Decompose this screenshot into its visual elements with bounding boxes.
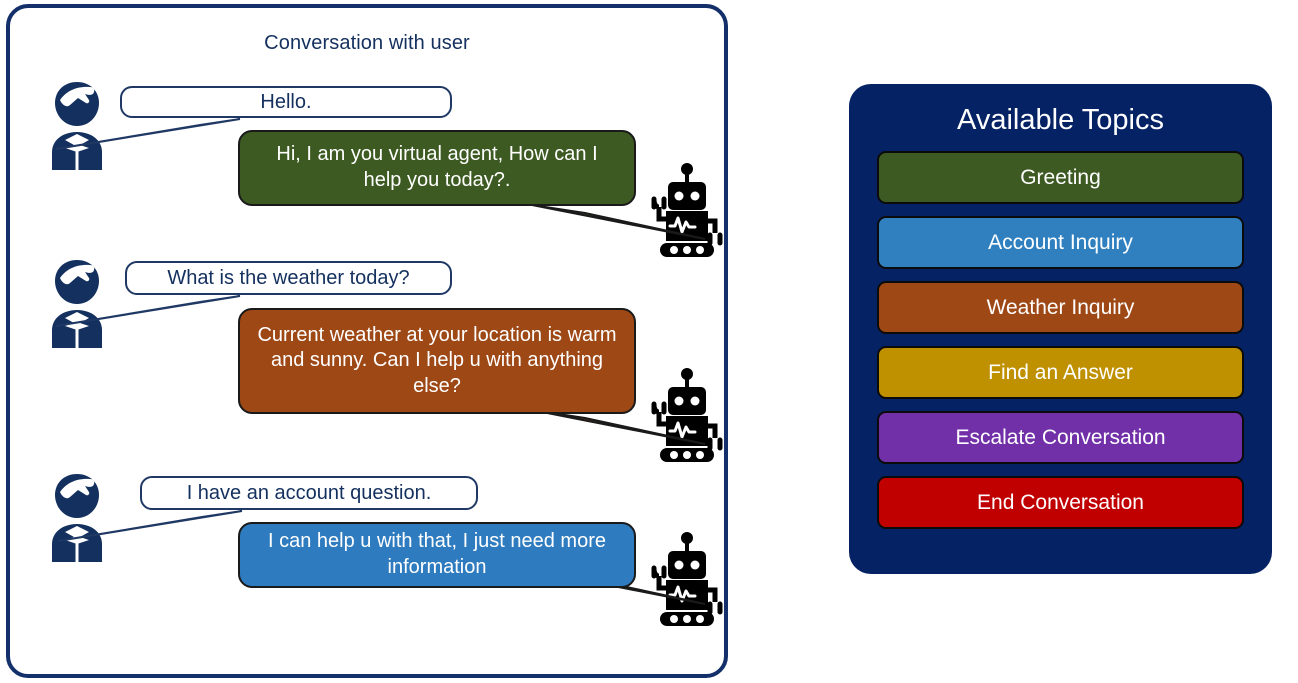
user-message-bubble: What is the weather today? bbox=[125, 261, 452, 295]
topic-button-weather-inquiry[interactable]: Weather Inquiry bbox=[877, 281, 1244, 334]
available-topics-panel: Available Topics Greeting Account Inquir… bbox=[849, 84, 1272, 574]
message-text: I have an account question. bbox=[187, 482, 432, 505]
agent-bubble-tail-icon bbox=[530, 203, 710, 248]
topic-label: Account Inquiry bbox=[988, 231, 1133, 255]
user-message-bubble: I have an account question. bbox=[140, 476, 478, 510]
agent-message-bubble: Hi, I am you virtual agent, How can I he… bbox=[238, 130, 636, 206]
topic-button-find-an-answer[interactable]: Find an Answer bbox=[877, 346, 1244, 399]
user-bubble-tail-icon bbox=[52, 505, 242, 547]
topics-panel-title: Available Topics bbox=[877, 104, 1244, 137]
topic-button-escalate-conversation[interactable]: Escalate Conversation bbox=[877, 411, 1244, 464]
message-text: Hello. bbox=[260, 91, 311, 114]
message-text: What is the weather today? bbox=[167, 267, 409, 290]
topic-label: End Conversation bbox=[977, 491, 1144, 515]
conversation-panel: Conversation with user Hello. Hi, I am y… bbox=[6, 4, 728, 678]
topic-button-end-conversation[interactable]: End Conversation bbox=[877, 476, 1244, 529]
topic-button-greeting[interactable]: Greeting bbox=[877, 151, 1244, 204]
message-text: Current weather at your location is warm… bbox=[256, 323, 618, 400]
user-bubble-tail-icon bbox=[50, 290, 240, 332]
agent-message-bubble: Current weather at your location is warm… bbox=[238, 308, 636, 414]
message-text: Hi, I am you virtual agent, How can I he… bbox=[256, 142, 618, 193]
user-bubble-tail-icon bbox=[50, 113, 240, 155]
topic-label: Find an Answer bbox=[988, 361, 1133, 385]
agent-bubble-tail-icon bbox=[530, 408, 710, 453]
user-message-bubble: Hello. bbox=[120, 86, 452, 118]
topic-label: Greeting bbox=[1020, 166, 1101, 190]
topic-button-account-inquiry[interactable]: Account Inquiry bbox=[877, 216, 1244, 269]
topic-label: Escalate Conversation bbox=[955, 426, 1165, 450]
topic-label: Weather Inquiry bbox=[987, 296, 1135, 320]
agent-message-bubble: I can help u with that, I just need more… bbox=[238, 522, 636, 588]
message-text: I can help u with that, I just need more… bbox=[256, 529, 618, 580]
page-title: Conversation with user bbox=[10, 32, 724, 55]
